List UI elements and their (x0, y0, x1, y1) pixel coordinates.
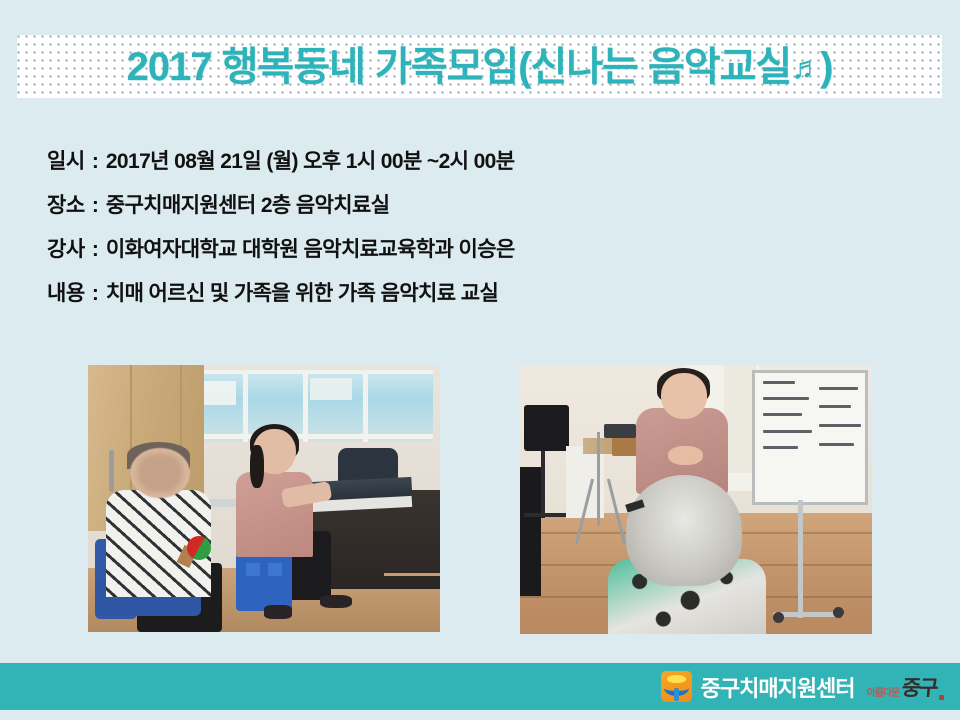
photo-right-board-writing-9 (819, 443, 854, 446)
photo-right-dark-edge (520, 467, 541, 596)
photo-right-tripod-center (597, 432, 600, 526)
footer-bar: 중구치매지원센터 아름다운 중구 (0, 663, 960, 710)
info-label-location: 장소 (47, 189, 85, 219)
info-value-datetime: 2017년 08월 21일 (월) 오후 1시 00분 ~2시 00분 (106, 145, 515, 175)
info-label-datetime: 일시 (47, 145, 85, 175)
photo-left-therapist-hair-side (250, 445, 264, 488)
calligraphy-small-text: 아름다운 (867, 684, 900, 699)
junggu-calligraphy-mark: 아름다운 중구 (867, 672, 944, 702)
music-note-icon: ♬ (791, 50, 820, 85)
info-row-instructor: 강사 : 이화여자대학교 대학원 음악치료교육학과 이승은 (47, 233, 907, 277)
photo-left-window-mullion-a (243, 370, 248, 442)
photo-right-instructor-hands (668, 446, 703, 465)
photo-left-shoe-a (264, 605, 292, 618)
photo-right-speaker-stand (541, 451, 545, 518)
info-block: 일시 : 2017년 08월 21일 (월) 오후 1시 00분 ~2시 00분… (47, 145, 907, 325)
photo-left-building-b (310, 378, 352, 399)
photo-left-cabinet-handle-a (109, 450, 114, 492)
photo-right-board-writing-3 (763, 413, 802, 416)
title-banner: 2017 행복동네 가족모임(신나는 음악교실♬) (17, 35, 942, 98)
info-row-content: 내용 : 치매 어르신 및 가족을 위한 가족 음악치료 교실 (47, 277, 907, 325)
photo-left-elder-face-blurred (137, 453, 183, 493)
photo-left-building-a (204, 381, 236, 405)
title-closing-paren: ) (820, 45, 832, 89)
photo-left-window-mullion-b (303, 370, 308, 442)
calligraphy-seal-dot (939, 695, 944, 700)
photo-right-speaker-foot (524, 513, 570, 517)
photo-left-stool (236, 552, 292, 611)
photo-music-therapy-keyboard (88, 365, 440, 632)
info-colon-content: : (85, 282, 106, 306)
photo-left-maraca (187, 536, 212, 560)
photo-right-participant-hair (626, 475, 742, 585)
info-row-location: 장소 : 중구치매지원센터 2층 음악치료실 (47, 189, 907, 233)
info-colon-location: : (85, 194, 106, 218)
info-label-content: 내용 (47, 277, 85, 307)
photo-instructor-whiteboard (520, 365, 872, 634)
photo-left-window-frame-bottom (197, 434, 433, 439)
logo-stem-shape (674, 688, 679, 701)
footer-content: 중구치매지원센터 아름다운 중구 (661, 671, 960, 703)
photo-right-board-writing-6 (819, 387, 858, 390)
info-label-instructor: 강사 (47, 233, 85, 263)
photo-right-speaker (524, 405, 570, 451)
photo-left-shoe-b (320, 595, 352, 608)
photo-right-wall-chart-b (724, 365, 756, 473)
photo-right-board-writing-7 (819, 405, 851, 408)
photo-right-whiteboard-leg (798, 500, 803, 618)
photo-left-stool-hole-a (246, 563, 260, 576)
photo-left-cable (384, 573, 440, 576)
photo-right-camera (604, 424, 636, 437)
info-colon-instructor: : (85, 238, 106, 262)
photo-right-instructor-head (661, 373, 707, 419)
title-main-text: 2017 행복동네 가족모임(신나는 음악교실 (127, 45, 792, 89)
info-value-location: 중구치매지원센터 2층 음악치료실 (106, 189, 390, 219)
info-colon-datetime: : (85, 150, 106, 174)
slide-canvas: 2017 행복동네 가족모임(신나는 음악교실♬) 일시 : 2017년 08월… (0, 0, 960, 720)
photo-right-board-writing-1 (763, 381, 795, 384)
photo-right-board-writing-8 (819, 424, 861, 427)
info-value-instructor: 이화여자대학교 대학원 음악치료교육학과 이승은 (106, 233, 515, 263)
page-title: 2017 행복동네 가족모임(신나는 음악교실♬) (127, 47, 833, 87)
calligraphy-big-text: 중구 (901, 672, 939, 702)
junggu-dementia-center-logo-icon (661, 671, 692, 702)
footer-organization-name: 중구치매지원센터 (701, 671, 855, 703)
photo-right-board-writing-4 (763, 430, 812, 433)
info-value-content: 치매 어르신 및 가족을 위한 가족 음악치료 교실 (106, 277, 498, 307)
info-row-datetime: 일시 : 2017년 08월 21일 (월) 오후 1시 00분 ~2시 00분 (47, 145, 907, 189)
photo-right-board-writing-5 (763, 446, 798, 449)
photo-left-window-mullion-c (363, 370, 368, 442)
photo-left-window-frame-top (197, 370, 433, 374)
photo-right-board-writing-2 (763, 397, 809, 400)
photo-right-whiteboard (752, 370, 868, 505)
photo-left-stool-hole-b (268, 563, 282, 576)
